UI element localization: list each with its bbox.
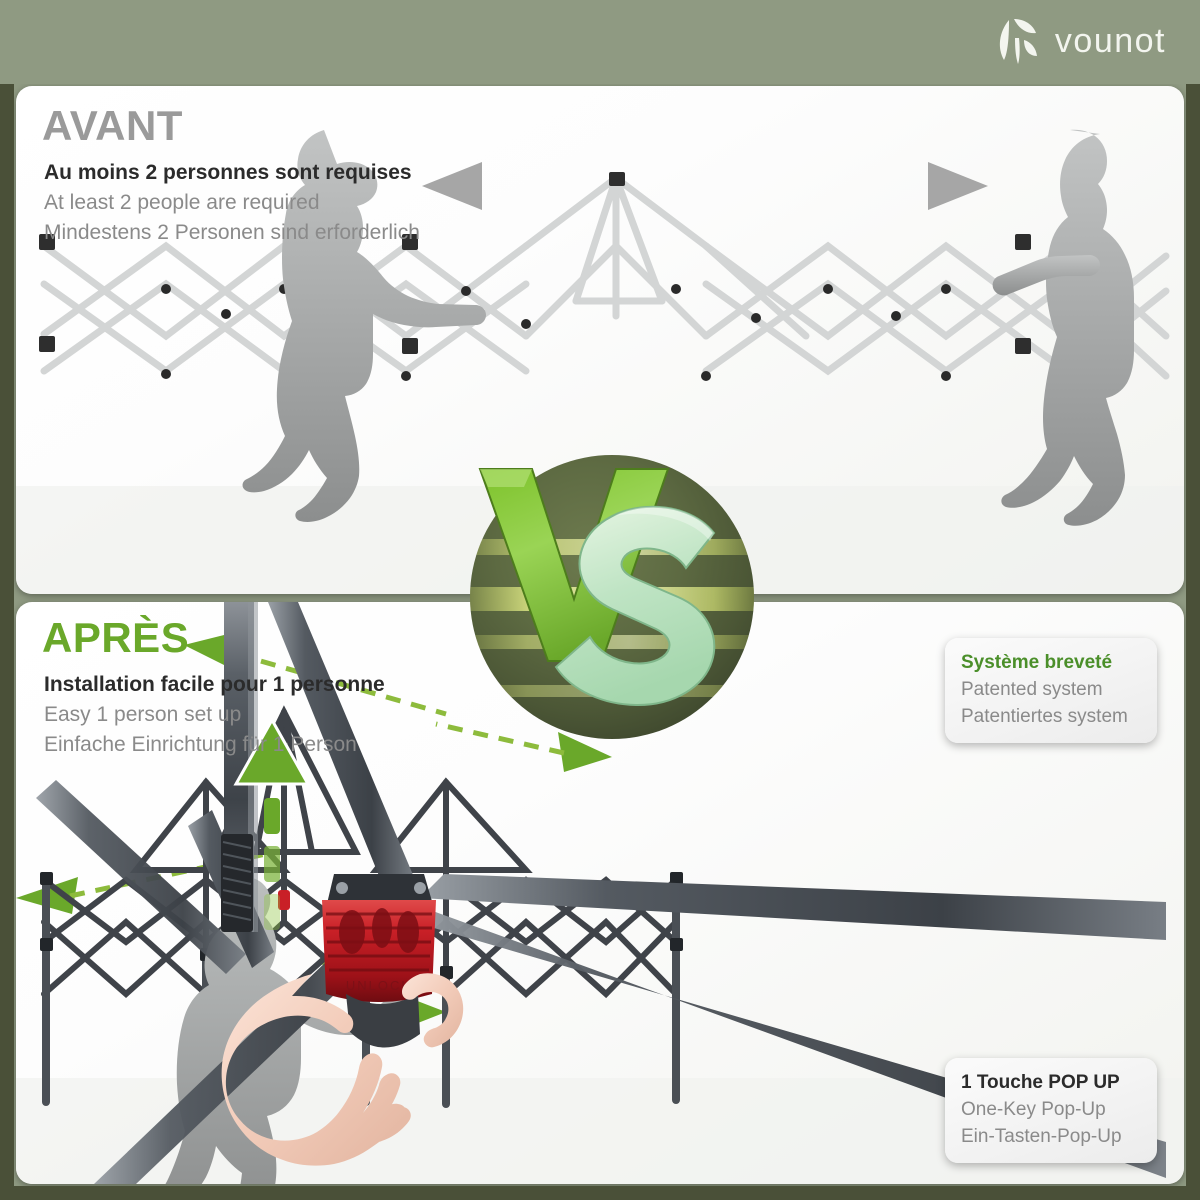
double-headed-dashed-arrow-icon [422, 162, 988, 210]
callout-one-key-popup: 1 Touche POP UP One-Key Pop-Up Ein-Taste… [945, 1058, 1157, 1163]
brand-wordmark: vounot [1055, 22, 1166, 61]
section-title-apres: APRÈS [42, 614, 189, 662]
avant-line-fr: Au moins 2 personnes sont requises [44, 158, 420, 188]
vs-badge [462, 447, 762, 747]
avant-line-de: Mindestens 2 Personen sind erforderlich [44, 218, 420, 248]
callout-popup-line-en: One-Key Pop-Up [961, 1096, 1141, 1123]
person-silhouette-right [993, 130, 1134, 526]
callout-patent-line-fr: Système breveté [961, 649, 1141, 676]
infographic-page: AVANT Au moins 2 personnes sont requises… [0, 0, 1200, 1200]
avant-subtitle-block: Au moins 2 personnes sont requises At le… [44, 158, 420, 248]
apres-line-en: Easy 1 person set up [44, 700, 385, 730]
apres-subtitle-block: Installation facile pour 1 personne Easy… [44, 670, 385, 760]
apres-line-fr: Installation facile pour 1 personne [44, 670, 385, 700]
callout-popup-line-fr: 1 Touche POP UP [961, 1069, 1141, 1096]
apres-line-de: Einfache Einrichtung für 1 Person [44, 730, 385, 760]
callout-popup-line-de: Ein-Tasten-Pop-Up [961, 1123, 1141, 1150]
callout-patented-system: Système breveté Patented system Patentie… [945, 638, 1157, 743]
avant-line-en: At least 2 people are required [44, 188, 420, 218]
callout-patent-line-de: Patentiertes system [961, 703, 1141, 730]
section-title-avant: AVANT [42, 102, 183, 150]
pole-rib-sleeve-icon [221, 834, 253, 932]
callout-patent-line-en: Patented system [961, 676, 1141, 703]
brand-logo: vounot [995, 16, 1166, 66]
leaf-mark-icon [995, 16, 1041, 66]
